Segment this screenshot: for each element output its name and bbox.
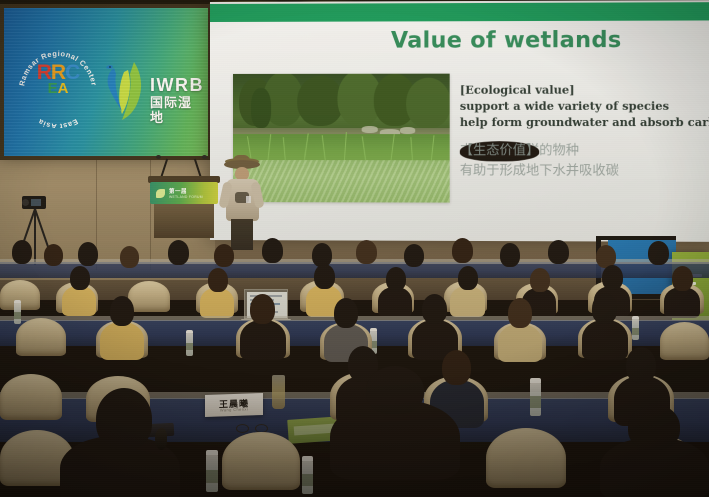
presenter-badge [246, 196, 251, 203]
interpretation-earpiece [155, 428, 167, 450]
slide-top-bar [210, 2, 709, 22]
presenter-speaker [222, 160, 262, 250]
camera-lens-icon [22, 199, 29, 206]
conference-presentation-photo: Ramsar Regional Center East Asia RRC EA … [0, 0, 709, 497]
projection-screen: Value of wetlands [210, 0, 709, 242]
foreground-attendee-head [366, 366, 424, 414]
slide-title: Value of wetlands [391, 28, 622, 54]
foreground-attendee-head [96, 388, 152, 450]
slide-line-en-1: support a wide variety of species [460, 98, 709, 114]
podium-leaf-icon [156, 189, 165, 198]
slide-line-en-0: [Ecological value] [460, 81, 709, 97]
slide-line-zh-2: 有助于形成地下水并吸收碳 [460, 161, 709, 182]
delegate-nameplate: 王晨曦 Wang Chenxi [205, 393, 263, 417]
secondary-display-frame [0, 4, 212, 160]
presenter-legs [231, 219, 253, 250]
camera-screen [31, 199, 41, 206]
slide-text-block: [Ecological value] support a wide variet… [460, 81, 709, 182]
slide-line-en-2: help form groundwater and absorb carbon [460, 114, 709, 130]
slide-photo-wetland [233, 74, 450, 203]
beverage-glass [272, 375, 285, 409]
nameplate-romanized: Wang Chenxi [205, 406, 263, 413]
foreground-attendee-head [628, 404, 680, 450]
podium-panel-english: WETLAND FORUM [169, 195, 203, 199]
slide-line-zh-0: 【生态价值】 [460, 141, 539, 161]
podium-lectern: 第一届 WETLAND FORUM [148, 176, 220, 238]
podium-logo-panel: 第一届 WETLAND FORUM [150, 182, 218, 204]
